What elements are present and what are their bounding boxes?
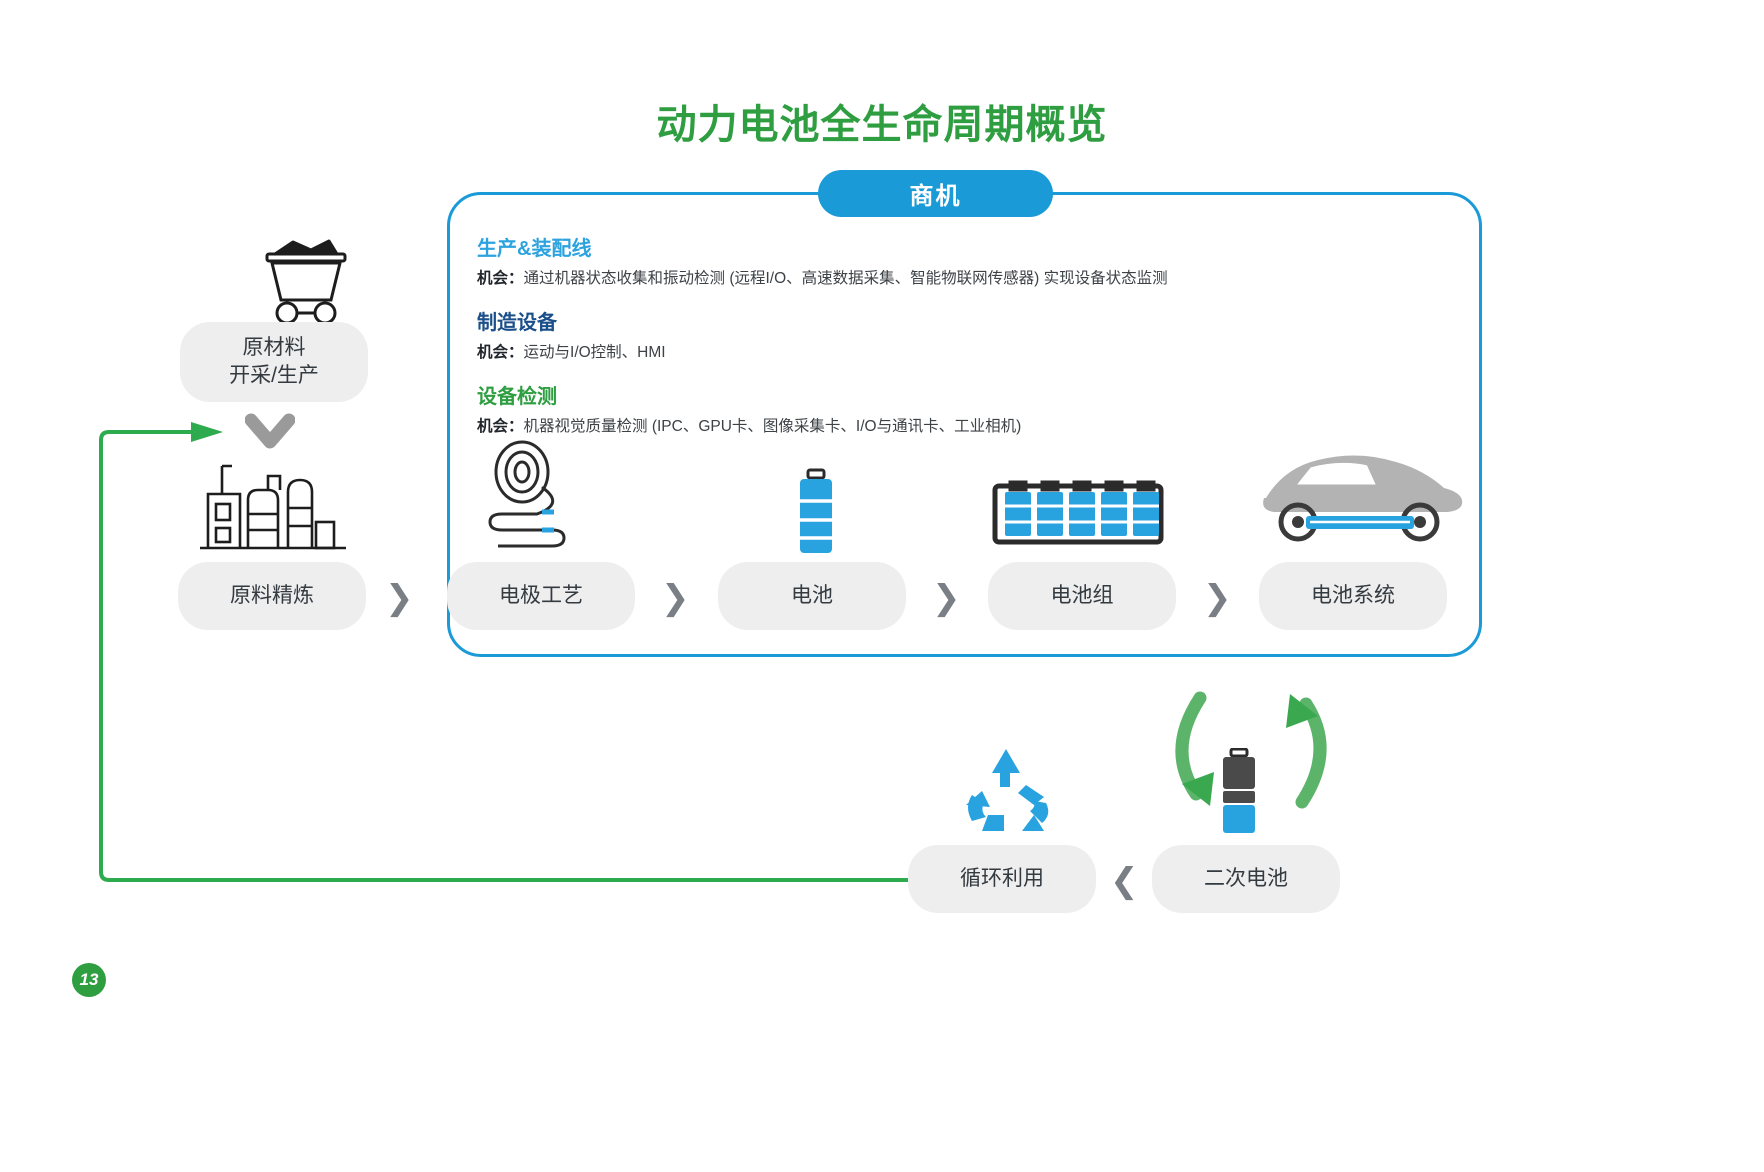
recycle-feedback-arrow-icon: [95, 418, 925, 888]
stage-pill-recycling[interactable]: 循环利用: [908, 845, 1096, 913]
stage-label-cell: 电池: [791, 582, 833, 610]
opportunity-heading-equipment: 制造设备: [477, 306, 1457, 335]
opportunity-label-production: 机会：: [477, 270, 524, 287]
opportunity-line-production: 机会：通过机器状态收集和振动检测 (远程I/O、高速数据采集、智能物联网传感器)…: [477, 266, 1457, 288]
recycle-icon: [960, 745, 1052, 837]
stage-label-electrode: 电极工艺: [499, 582, 583, 610]
chevron-second-life-to-recycling: ❮: [1110, 861, 1139, 901]
opportunity-label-equipment: 机会：: [477, 344, 524, 361]
chevron-cell-to-module: ❯: [932, 578, 961, 618]
stage-label-module: 电池组: [1051, 582, 1114, 610]
opportunity-heading-inspection: 设备检测: [477, 380, 1457, 409]
opportunity-detail-equipment: 运动与I/O控制、HMI: [524, 344, 666, 361]
stage-label-battery-system: 电池系统: [1311, 582, 1395, 610]
opportunity-line-equipment: 机会：运动与I/O控制、HMI: [477, 340, 1457, 362]
mining-cart-icon: [245, 238, 365, 328]
chevron-refining-to-electrode: ❯: [385, 578, 414, 618]
stage-pill-second-life[interactable]: 二次电池: [1152, 845, 1340, 913]
opportunity-heading-production: 生产&装配线: [477, 232, 1457, 261]
stage-pill-refining[interactable]: 原料精炼: [178, 562, 366, 630]
stage-label-raw-material: 原材料 开采/生产: [229, 334, 319, 391]
stage-label-second-life: 二次电池: [1204, 865, 1288, 893]
stage-pill-battery-system[interactable]: 电池系统: [1259, 562, 1447, 630]
stage-label-recycling: 循环利用: [960, 865, 1044, 893]
chevron-module-to-system: ❯: [1203, 578, 1232, 618]
stage-pill-cell[interactable]: 电池: [718, 562, 906, 630]
stage-pill-electrode[interactable]: 电极工艺: [447, 562, 635, 630]
opportunity-badge: 商机: [818, 170, 1053, 217]
page-number-badge: 13: [72, 963, 106, 997]
stage-pill-module[interactable]: 电池组: [988, 562, 1176, 630]
electric-car-icon: [1248, 440, 1470, 550]
green-loop-arrow-icon: [1160, 660, 1340, 840]
opportunity-detail-production: 通过机器状态收集和振动检测 (远程I/O、高速数据采集、智能物联网传感器) 实现…: [524, 270, 1168, 287]
battery-module-icon: [992, 478, 1164, 546]
stage-pill-raw-material[interactable]: 原材料 开采/生产: [180, 322, 368, 402]
chevron-electrode-to-cell: ❯: [661, 578, 690, 618]
page-title: 动力电池全生命周期概览: [0, 92, 1764, 150]
stage-label-refining: 原料精炼: [230, 582, 314, 610]
